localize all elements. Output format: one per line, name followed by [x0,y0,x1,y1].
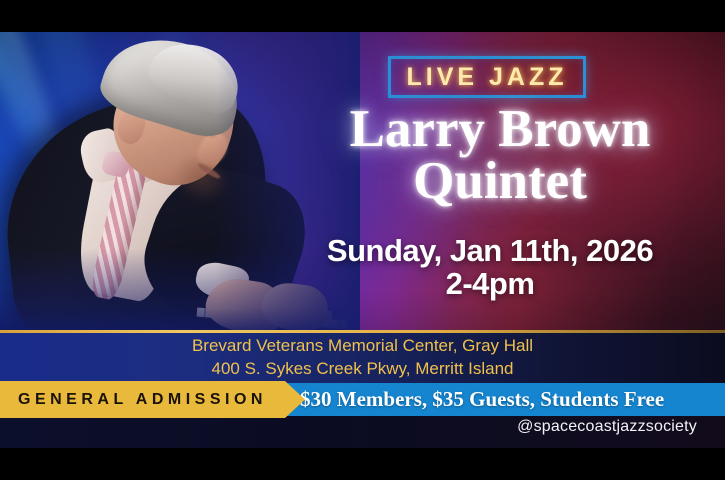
headline-line-2: Quintet [290,156,710,208]
letterbox-bar-top [0,0,725,32]
venue-band: Brevard Veterans Memorial Center, Gray H… [0,333,725,383]
social-handle: @spacecoastjazzsociety [517,418,697,436]
event-date: Sunday, Jan 11th, 2026 [327,233,653,268]
admission-price: $30 Members, $35 Guests, Students Free [300,383,725,416]
event-poster: LIVE JAZZ Larry Brown Quintet Sunday, Ja… [0,0,725,480]
event-time: 2-4pm [265,267,715,300]
venue-address: 400 S. Sykes Creek Pkwy, Merritt Island [211,358,513,381]
general-admission-ribbon: GENERAL ADMISSION [0,381,305,418]
poster-stage: LIVE JAZZ Larry Brown Quintet Sunday, Ja… [0,32,725,448]
event-datetime: Sunday, Jan 11th, 2026 2-4pm [265,234,715,301]
letterbox-bar-bottom [0,448,725,480]
general-admission-label: GENERAL ADMISSION [0,391,267,409]
page-title: Larry Brown Quintet [290,104,710,208]
headline-line-1: Larry Brown [350,100,651,158]
live-jazz-badge: LIVE JAZZ [388,56,586,98]
venue-name: Brevard Veterans Memorial Center, Gray H… [192,335,533,358]
live-jazz-label: LIVE JAZZ [406,63,567,92]
